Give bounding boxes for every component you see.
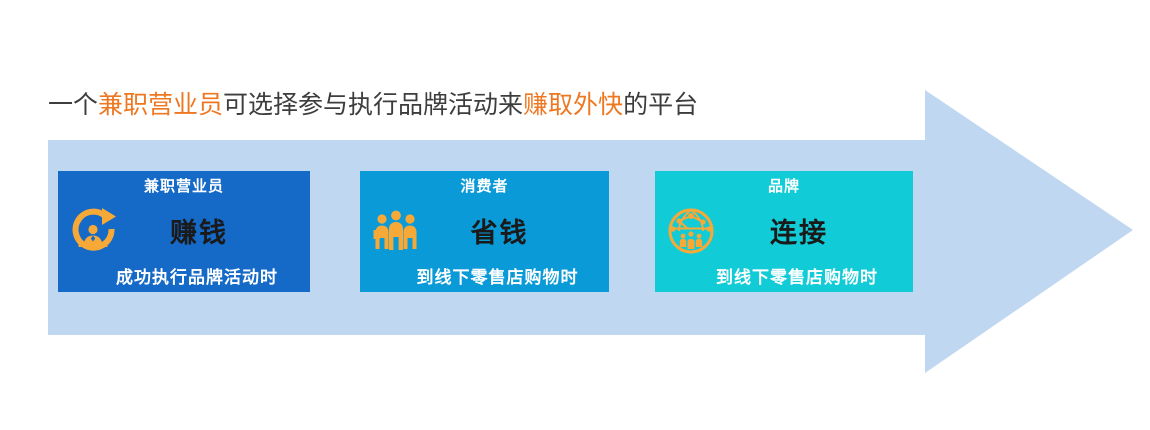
title-middle: 可选择参与执行品牌活动来 [223,91,523,119]
card-main-label: 赚钱 [58,211,310,250]
card-footer: 成功执行品牌活动时 [58,263,310,288]
card-footer: 到线下零售店购物时 [360,263,609,288]
card-consumer[interactable]: 消费者 省钱 到线下零售店购物时 [360,171,609,292]
card-header: 品牌 [655,175,913,196]
page-title: 一个兼职营业员可选择参与执行品牌活动来赚取外快的平台 [48,88,698,122]
card-footer: 到线下零售店购物时 [655,263,913,288]
card-main-label: 省钱 [360,211,609,250]
title-suffix: 的平台 [623,91,698,119]
card-brand[interactable]: 品牌 [655,171,913,292]
title-highlight-worker: 兼职营业员 [98,91,223,119]
title-highlight-earn: 赚取外快 [523,91,623,119]
card-part-time-worker[interactable]: 兼职营业员 赚钱 成功执行品牌活动时 [58,171,310,292]
card-main-label: 连接 [655,211,913,250]
card-header: 兼职营业员 [58,175,310,196]
card-header: 消费者 [360,175,609,196]
title-prefix: 一个 [48,91,98,119]
card-row: 兼职营业员 赚钱 成功执行品牌活动时 消费者 [58,171,913,292]
